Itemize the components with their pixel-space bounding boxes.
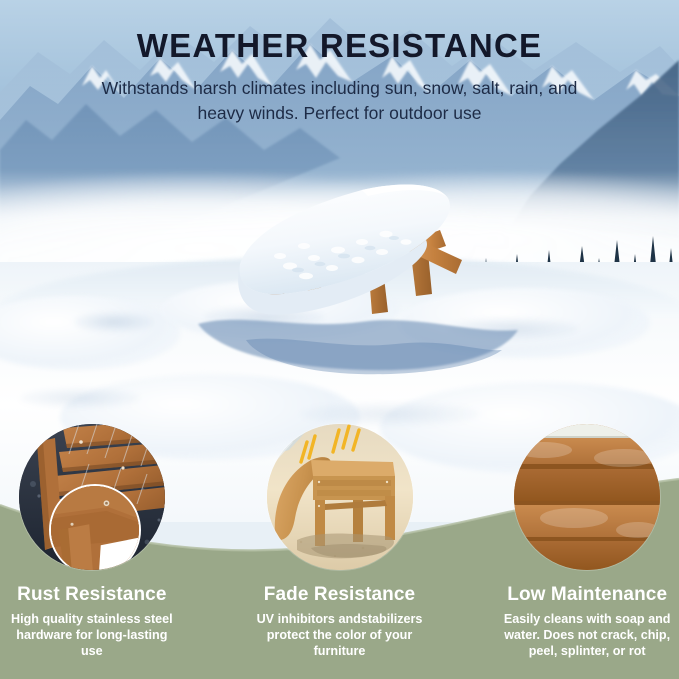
header-text-block: WEATHER RESISTANCE Withstands harsh clim… (0, 28, 679, 126)
rust-resistance-magnifier-inset (49, 484, 141, 570)
snow-covered-ottoman (210, 178, 500, 338)
low-maintenance-image (514, 424, 660, 570)
feature-fade-resistance: Fade Resistance UV inhibitors andstabili… (248, 424, 432, 679)
feature-rust-resistance: Rust Resistance High quality stainless s… (0, 424, 184, 679)
feature-description: High quality stainless steel hardware fo… (0, 611, 184, 659)
weather-resistance-infographic: WEATHER RESISTANCE Withstands harsh clim… (0, 0, 679, 679)
feature-low-maintenance: Low Maintenance Easily cleans with soap … (495, 424, 679, 679)
page-title: WEATHER RESISTANCE (0, 28, 679, 64)
page-subtitle: Withstands harsh climates including sun,… (0, 76, 679, 126)
feature-description: UV inhibitors andstabilizers protect the… (248, 611, 432, 659)
feature-title: Low Maintenance (495, 584, 679, 606)
feature-title: Fade Resistance (248, 584, 432, 606)
feature-description: Easily cleans with soap and water. Does … (495, 611, 679, 659)
feature-list: Rust Resistance High quality stainless s… (0, 424, 679, 679)
feature-title: Rust Resistance (0, 584, 184, 606)
rust-resistance-image (19, 424, 165, 570)
fade-resistance-image (267, 424, 413, 570)
